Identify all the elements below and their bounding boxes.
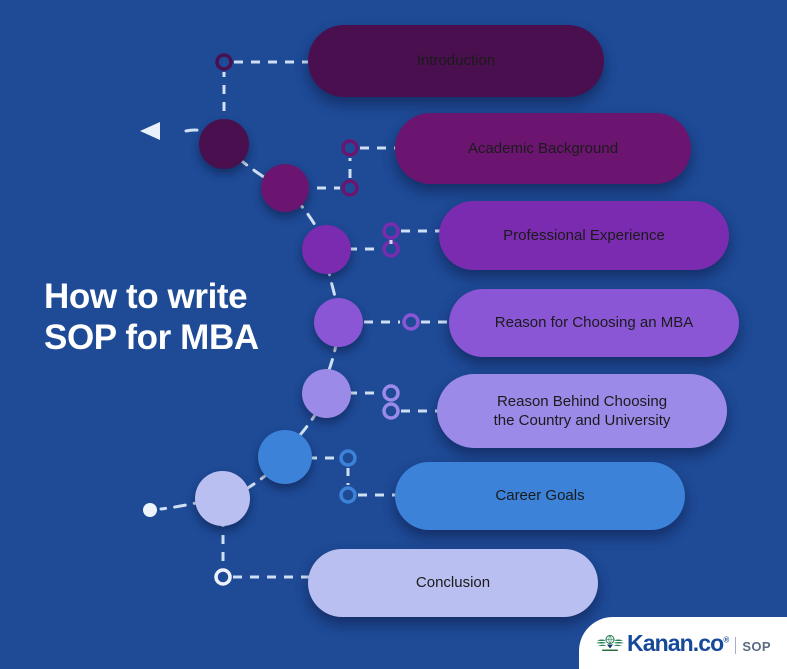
step-node-6[interactable] <box>267 439 303 475</box>
step-pill-professional-experience[interactable]: Professional Experience <box>448 208 720 263</box>
elbow-ring-5-upper <box>384 386 398 400</box>
step-label-4: Reason for Choosing an MBA <box>495 313 693 332</box>
elbow-ring-6-lower <box>341 488 355 502</box>
step-label-3: Professional Experience <box>503 226 665 245</box>
infographic-canvas: How to write SOP for MBA Introduction Ac… <box>0 0 787 669</box>
step-pill-reason-country-university[interactable]: Reason Behind Choosing the Country and U… <box>446 381 718 441</box>
step-label-5-line-1: Reason Behind Choosing <box>497 393 667 410</box>
step-pill-reason-choosing-mba[interactable]: Reason for Choosing an MBA <box>458 296 730 350</box>
logo-divider <box>735 637 736 654</box>
step-node-7[interactable] <box>204 480 241 517</box>
step-pill-career-goals[interactable]: Career Goals <box>404 469 676 523</box>
logo-text: Kanan.co®SOP <box>627 630 771 657</box>
step-node-5[interactable] <box>311 378 342 409</box>
step-pill-conclusion[interactable]: Conclusion <box>317 556 589 610</box>
elbow-ring-4 <box>404 315 418 329</box>
step-label-5-line-2: the Country and University <box>494 412 671 429</box>
step-node-3[interactable] <box>311 234 342 265</box>
elbow-ring-5-lower <box>384 404 398 418</box>
step-pill-introduction[interactable]: Introduction <box>317 32 595 90</box>
elbow-ring-2-lower <box>343 181 357 195</box>
elbow-ring-6-upper <box>341 451 355 465</box>
step-label-6: Career Goals <box>495 486 584 505</box>
path-end-dot <box>143 503 157 517</box>
elbow-ring-7 <box>216 570 230 584</box>
logo-product-label: SOP <box>742 639 771 654</box>
elbow-ring-3-lower <box>384 242 398 256</box>
step-label-1: Introduction <box>417 51 495 70</box>
logo-wordmark-text: Kanan.co <box>627 630 723 656</box>
step-node-2[interactable] <box>270 173 300 203</box>
step-label-5: Reason Behind Choosing the Country and U… <box>494 392 671 430</box>
step-label-7: Conclusion <box>416 573 490 592</box>
logo-registered-mark: ® <box>723 635 728 644</box>
step-label-2: Academic Background <box>468 139 618 158</box>
elbow-ring-3-upper <box>384 224 398 238</box>
logo-wordmark: Kanan.co®SOP <box>627 630 771 656</box>
step-node-4[interactable] <box>323 307 354 338</box>
brand-logo: Kanan.co®SOP <box>579 617 787 669</box>
title-line-2: SOP for MBA <box>44 318 344 359</box>
page-title: How to write SOP for MBA <box>44 277 344 359</box>
step-pill-academic-background[interactable]: Academic Background <box>404 120 682 177</box>
elbow-ring-1 <box>217 55 231 69</box>
elbow-ring-2-upper <box>343 141 357 155</box>
title-line-1: How to write <box>44 277 344 318</box>
path-arrowhead <box>140 122 160 140</box>
winged-globe-icon <box>595 631 625 655</box>
step-node-1[interactable] <box>208 128 240 160</box>
